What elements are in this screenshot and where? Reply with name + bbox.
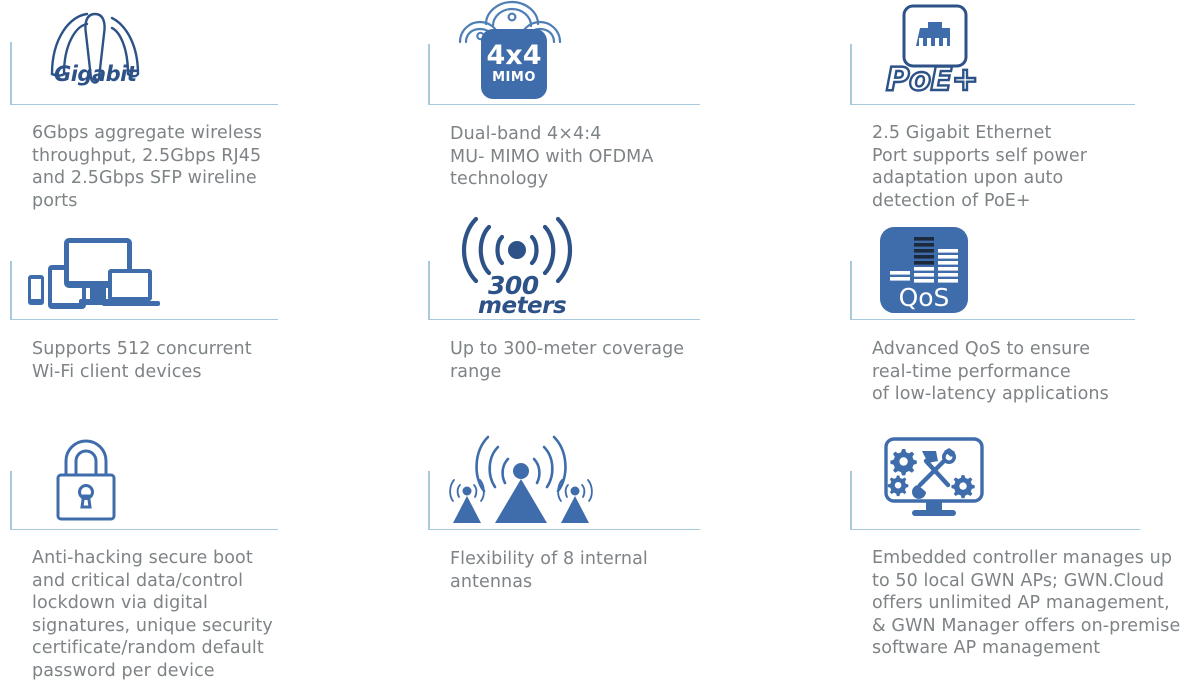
qos-tile: QoS (880, 227, 968, 313)
feature-description: Supports 512 concurrent Wi-Fi client dev… (32, 338, 290, 383)
feature-description: Anti-hacking secure boot and critical da… (32, 547, 290, 682)
card-vertical-rule (10, 471, 12, 529)
mimo-tile-label-bottom: MIMO (492, 70, 536, 86)
card-divider (10, 104, 278, 105)
qos-equalizer-tile-icon: QoS (880, 221, 968, 313)
card-vertical-rule (10, 261, 12, 319)
card-divider (10, 319, 278, 320)
antenna-towers-icon (446, 431, 596, 525)
feature-description: Up to 300-meter coverage range (450, 338, 716, 383)
multi-devices-icon (24, 229, 164, 317)
mimo-tile-label-top: 4x4 (487, 42, 542, 70)
4x4-mimo-tile-icon: 4x4 MIMO (450, 0, 590, 100)
signal-range-icon: 300 meters (450, 215, 590, 315)
poe-plus-wordmark: PoE+ (886, 60, 978, 98)
gigabit-wordmark: Gigabit (54, 62, 136, 86)
card-vertical-rule (10, 42, 12, 104)
card-vertical-rule (428, 44, 430, 104)
mimo-tile: 4x4 MIMO (481, 29, 547, 99)
coverage-label-bottom: meters (478, 295, 566, 318)
monitor-tools-gears-icon (874, 431, 994, 523)
qos-tile-label: QoS (880, 283, 968, 312)
poe-plus-rj45-icon: PoE+ (880, 2, 1010, 98)
feature-description: 6Gbps aggregate wireless throughput, 2.5… (32, 122, 282, 212)
feature-grid: Gigabit 6Gbps aggregate wireless through… (0, 0, 1200, 676)
card-divider (850, 529, 1140, 530)
card-divider (428, 319, 700, 320)
feature-description: 2.5 Gigabit Ethernet Port supports self … (872, 122, 1167, 212)
card-vertical-rule (850, 261, 852, 319)
card-divider (428, 104, 700, 105)
feature-description: Flexibility of 8 internal antennas (450, 548, 716, 593)
card-vertical-rule (850, 44, 852, 104)
feature-description: Advanced QoS to ensure real-time perform… (872, 338, 1167, 406)
card-divider (850, 319, 1135, 320)
card-divider (850, 104, 1135, 105)
card-vertical-rule (428, 261, 430, 319)
feature-description: Dual-band 4×4:4 MU- MIMO with OFDMA tech… (450, 123, 712, 191)
card-vertical-rule (428, 471, 430, 529)
feature-description: Embedded controller manages up to 50 loc… (872, 547, 1200, 660)
card-divider (428, 529, 700, 530)
padlock-icon (40, 431, 132, 523)
card-vertical-rule (850, 471, 852, 529)
card-divider (10, 529, 278, 530)
